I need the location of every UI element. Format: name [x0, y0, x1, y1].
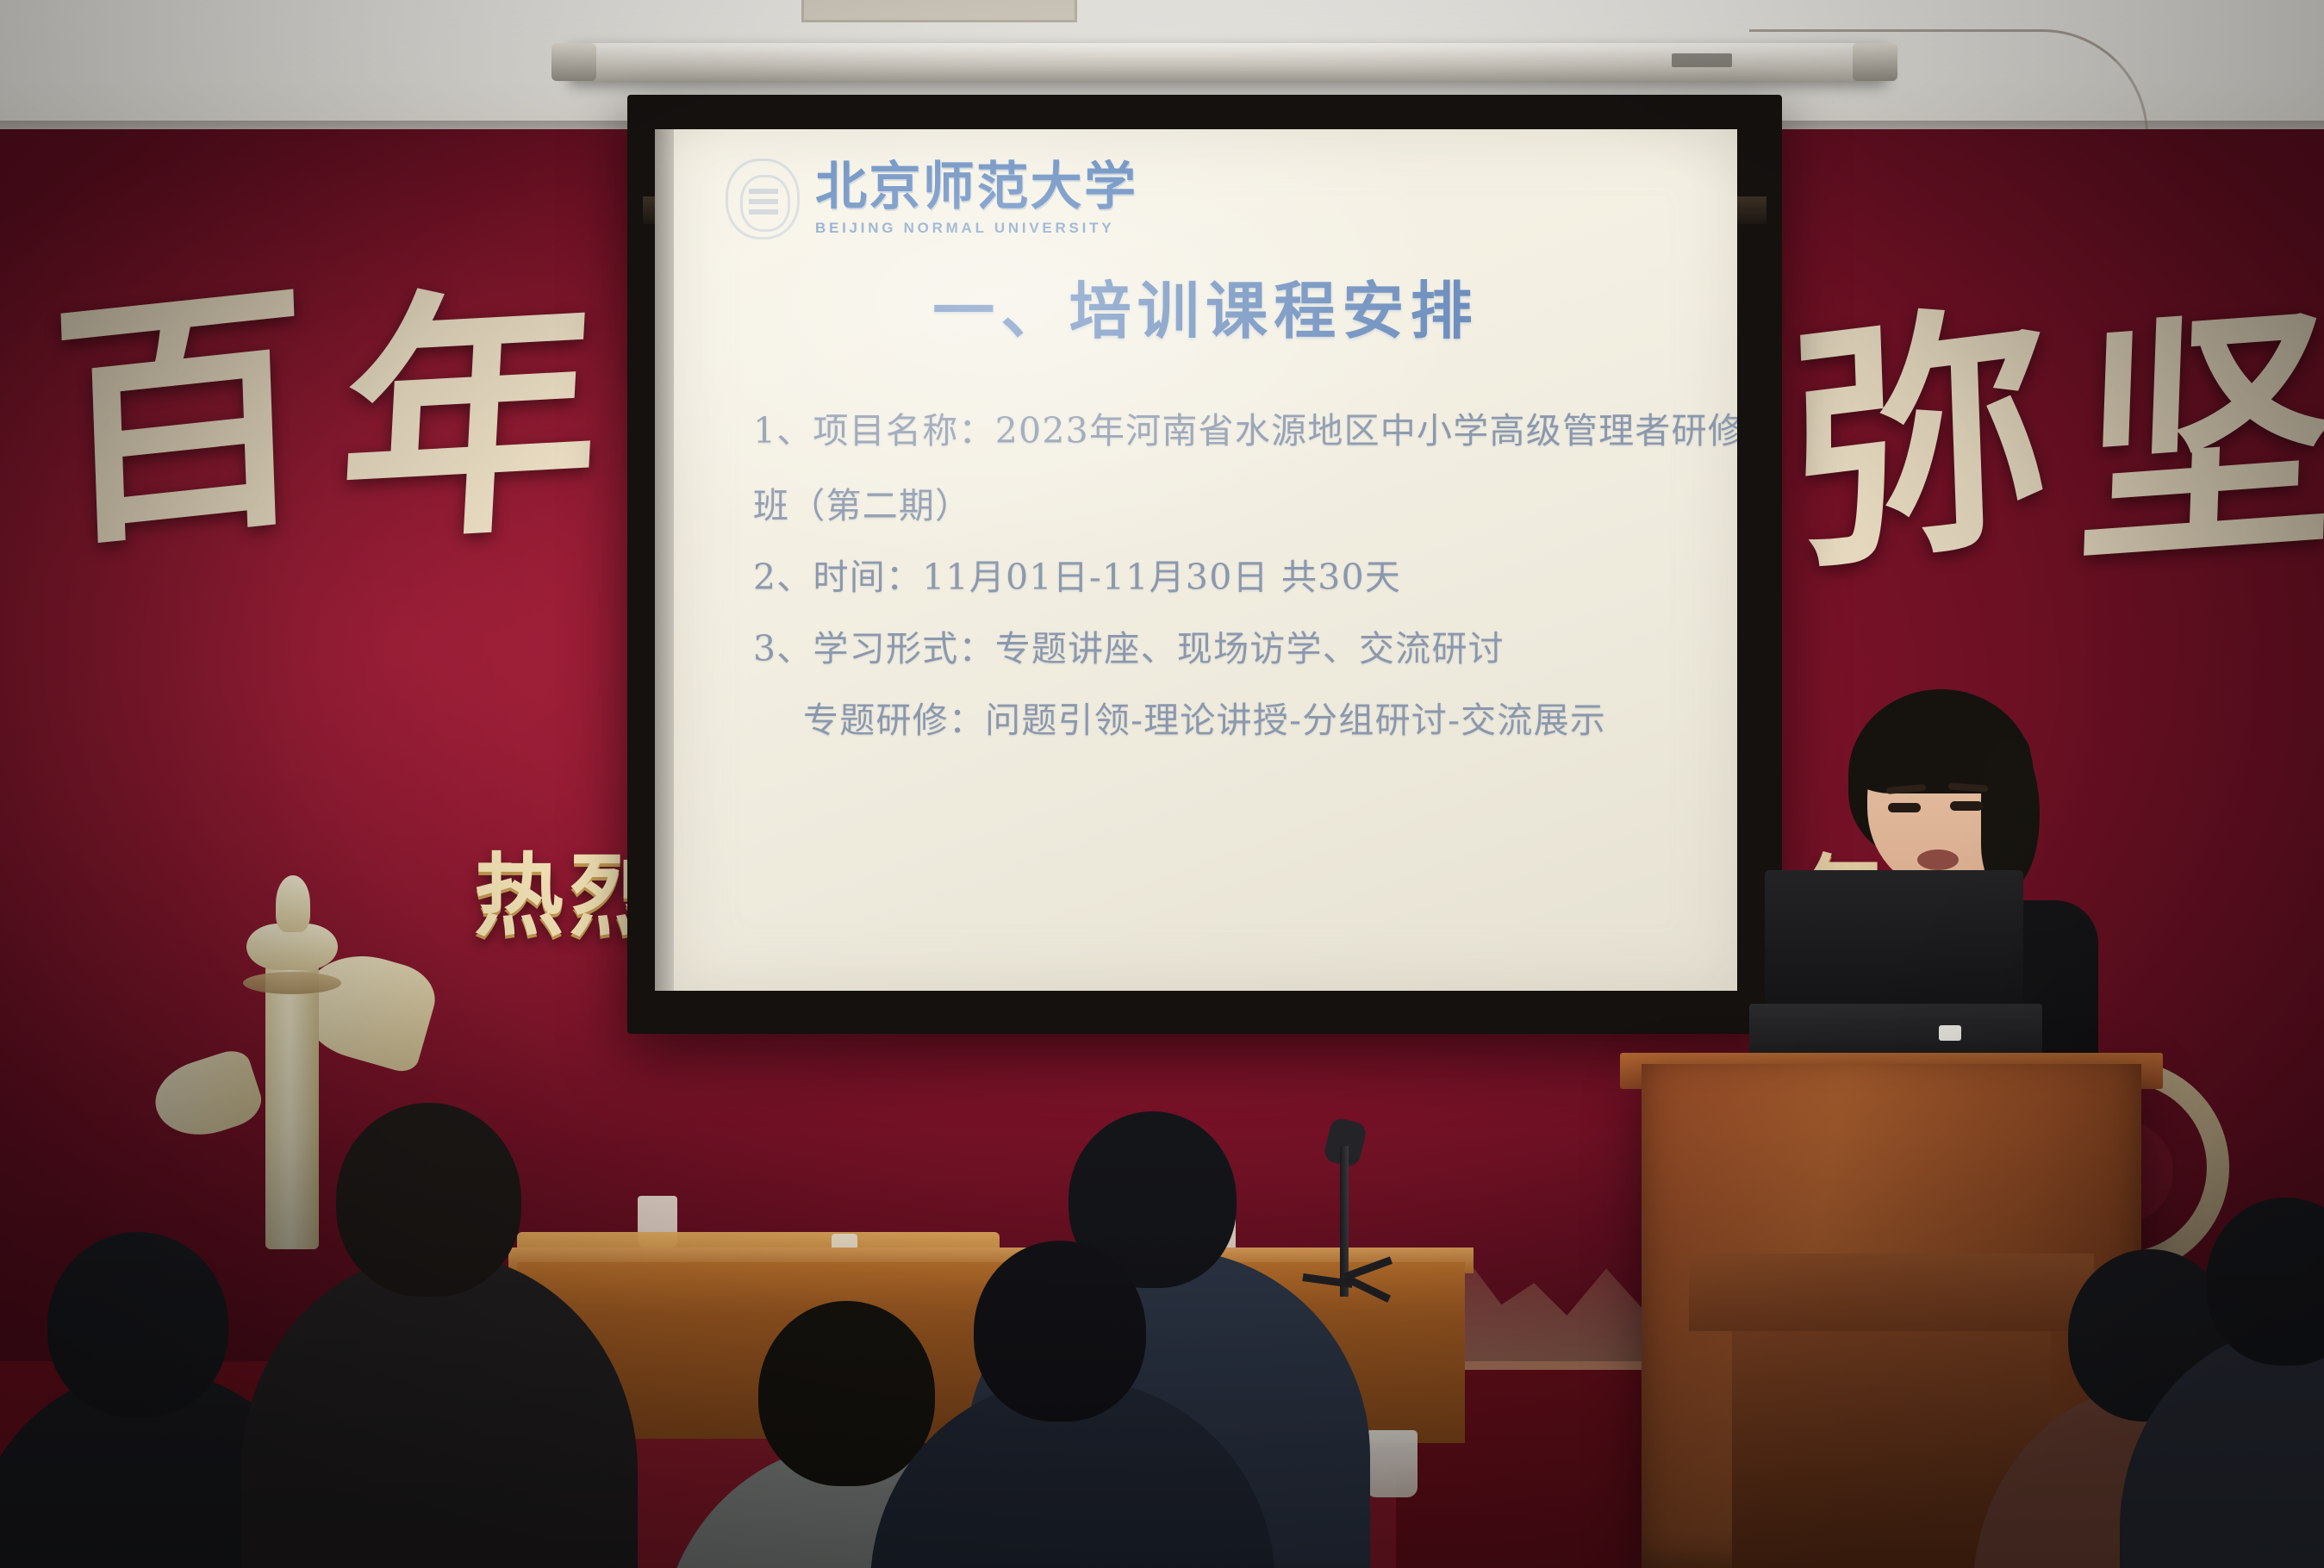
- ceiling-panel: [801, 0, 1077, 22]
- audience-head: [336, 1103, 521, 1297]
- logo-english-name: BEIJING NORMAL UNIVERSITY: [815, 220, 1137, 237]
- laptop-screen: [1765, 870, 2023, 1008]
- slide-line-1: 1、项目名称：2023年河南省水源地区中小学高级管理者研修: [753, 414, 1692, 449]
- lectern-shelf: [1689, 1254, 2094, 1331]
- presenter-eye-right: [1950, 801, 1983, 811]
- slide-line-3: 2、时间：11月01日-11月30日 共30天: [753, 560, 1692, 595]
- laptop-indicator: [1939, 1025, 1961, 1041]
- slide-line-2: 班（第二期）: [753, 488, 1692, 524]
- audience-cup-2: [1366, 1430, 1417, 1497]
- projection-screen: 北京师范大学 BEIJING NORMAL UNIVERSITY 一、培训课程安…: [674, 129, 1737, 991]
- slide-title: 一、培训课程安排: [674, 260, 1737, 351]
- screen-left-edge: [655, 129, 676, 991]
- roller-end-left: [551, 43, 596, 81]
- conference-room-photo: 百年初 弥坚 热烈 年 北京师范大学 BEIJING NORMAL UNIVER…: [0, 0, 2324, 1568]
- university-logo: 北京师范大学 BEIJING NORMAL UNIVERSITY: [726, 159, 1137, 240]
- presenter-hair-side: [1981, 741, 2040, 887]
- roller-label: [1672, 53, 1732, 67]
- logo-chinese-name: 北京师范大学: [815, 161, 1137, 213]
- roller-end-right: [1853, 43, 1897, 81]
- audience-head: [974, 1241, 1146, 1422]
- slide-line-5: 专题研修：问题引领-理论讲授-分组研讨-交流展示: [803, 703, 1692, 738]
- slide-body: 1、项目名称：2023年河南省水源地区中小学高级管理者研修 班（第二期） 2、时…: [753, 414, 1692, 778]
- presenter-mouth: [1917, 849, 1959, 870]
- presenter-eye-left: [1888, 803, 1921, 812]
- bnu-seal-icon: [726, 159, 800, 240]
- slide-line-4: 3、学习形式：专题讲座、现场访学、交流研讨: [753, 632, 1692, 667]
- audience-head: [47, 1232, 228, 1417]
- audience-head: [758, 1301, 935, 1486]
